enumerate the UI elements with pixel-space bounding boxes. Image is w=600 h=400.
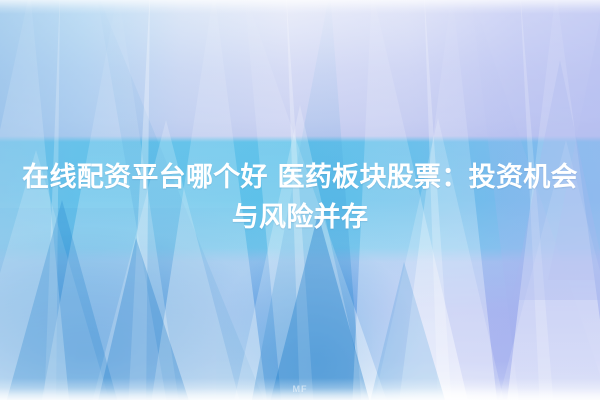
article-banner: 在线配资平台哪个好 医药板块股票：投资机会与风险并存 MF [0,0,600,400]
top-light-fade [0,0,600,14]
watermark-text: MF [0,384,600,394]
banner-title-block: 在线配资平台哪个好 医药板块股票：投资机会与风险并存 [0,158,600,238]
banner-title: 在线配资平台哪个好 医药板块股票：投资机会与风险并存 [14,158,586,238]
